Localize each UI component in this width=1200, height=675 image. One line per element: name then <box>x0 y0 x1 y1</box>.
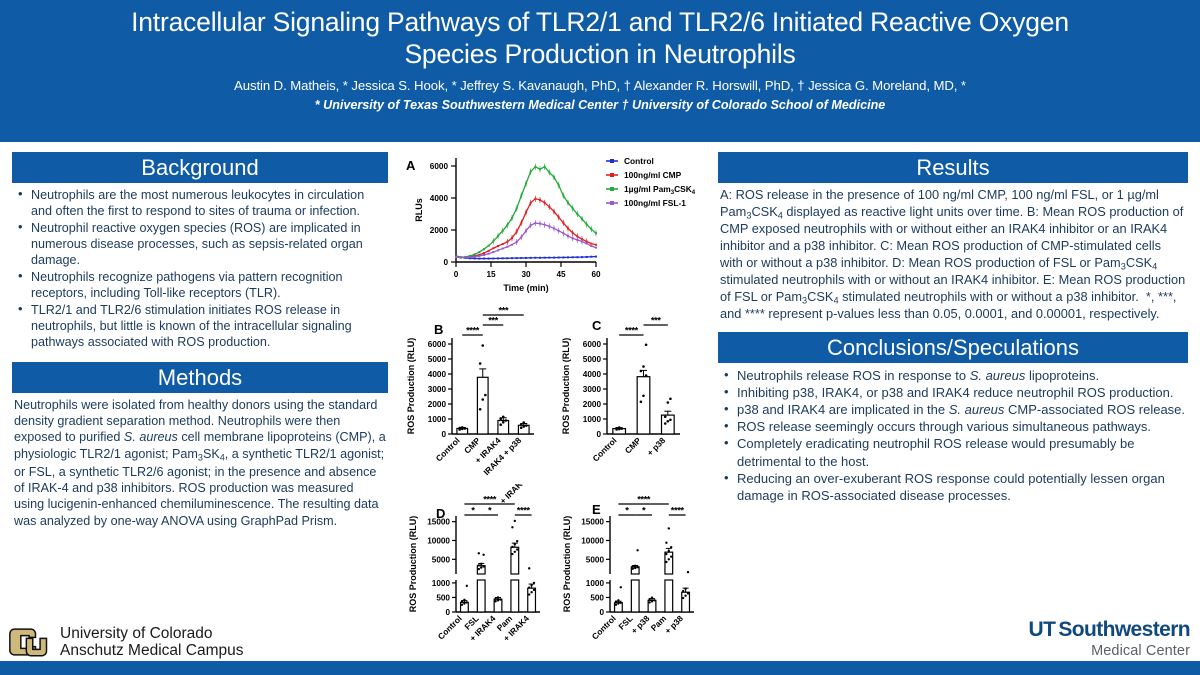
svg-text:+ p38: + p38 <box>663 613 686 636</box>
utsw-logo-sub: Medical Center <box>1029 643 1190 659</box>
svg-text:****: **** <box>637 495 651 506</box>
svg-text:15000: 15000 <box>427 518 450 527</box>
svg-text:30: 30 <box>521 270 531 279</box>
svg-text:ROS Production (RLU): ROS Production (RLU) <box>408 516 418 613</box>
list-item: Neutrophils release ROS in response to S… <box>720 367 1186 384</box>
svg-text:5000: 5000 <box>432 555 451 564</box>
svg-text:ROS Production (RLU): ROS Production (RLU) <box>561 338 571 435</box>
svg-text:4000: 4000 <box>428 370 447 379</box>
background-body: Neutrophils are the most numerous leukoc… <box>12 183 388 351</box>
conclusions-section: Conclusions/Speculations Neutrophils rel… <box>718 332 1188 504</box>
conclusions-body: Neutrophils release ROS in response to S… <box>718 363 1188 504</box>
legend-label-control: Control <box>624 156 654 166</box>
svg-text:C: C <box>592 318 602 333</box>
figure-column: A 0 2000 4000 6000 0 <box>400 150 710 668</box>
svg-text:****: **** <box>625 326 639 337</box>
svg-text:+ p38: + p38 <box>645 435 668 458</box>
svg-text:***: *** <box>498 306 508 317</box>
svg-text:10000: 10000 <box>427 536 450 545</box>
list-item: p38 and IRAK4 are implicated in the S. a… <box>720 401 1186 418</box>
section-heading-results: Results <box>718 152 1188 183</box>
svg-text:1000: 1000 <box>428 415 447 424</box>
list-item: TLR2/1 and TLR2/6 stimulation initiates … <box>14 302 386 351</box>
panel-a-x-ticks: 0 15 30 45 60 <box>454 262 601 279</box>
affiliation-list: * University of Texas Southwestern Medic… <box>315 98 886 112</box>
panel-a-y-label: RLUs <box>414 198 424 222</box>
right-column: Results A: ROS release in the presence o… <box>718 152 1188 504</box>
panel-e-bar-chart: E0500100050001000015000ROS Production (R… <box>552 484 707 668</box>
section-heading-conclusions: Conclusions/Speculations <box>718 332 1188 363</box>
cu-buffalo-icon <box>8 620 52 664</box>
svg-text:****: **** <box>517 506 531 517</box>
svg-text:ROS Production (RLU): ROS Production (RLU) <box>562 516 572 613</box>
panel-d-bar-chart: D0500100050001000015000ROS Production (R… <box>400 484 552 668</box>
svg-text:500: 500 <box>436 593 450 602</box>
svg-text:ROS Production (RLU): ROS Production (RLU) <box>406 338 416 435</box>
svg-text:60: 60 <box>591 270 601 279</box>
panel-a-letter: A <box>406 158 416 173</box>
svg-text:0: 0 <box>443 258 448 267</box>
svg-text:***: *** <box>488 316 498 327</box>
svg-text:5000: 5000 <box>428 355 447 364</box>
poster-header: Intracellular Signaling Pathways of TLR2… <box>0 0 1200 142</box>
poster-title: Intracellular Signaling Pathways of TLR2… <box>30 6 1170 71</box>
conclusions-bullet-list: Neutrophils release ROS in response to S… <box>720 367 1186 504</box>
methods-body: Neutrophils were isolated from healthy d… <box>12 393 388 530</box>
poster-root: Intracellular Signaling Pathways of TLR2… <box>0 0 1200 675</box>
svg-text:+ IRAK4: + IRAK4 <box>498 484 528 506</box>
svg-text:15: 15 <box>486 270 496 279</box>
svg-text:Control: Control <box>590 435 618 463</box>
svg-text:****: **** <box>483 495 497 506</box>
title-line-1: Intracellular Signaling Pathways of TLR2… <box>131 7 1069 37</box>
legend-label-pam: 1µg/ml Pam3CSK4 <box>624 184 696 196</box>
svg-text:1000: 1000 <box>432 579 451 588</box>
list-item: Neutrophils are the most numerous leukoc… <box>14 187 386 220</box>
panel-b-bar-chart: B0100020003000400050006000ROS Production… <box>400 302 552 484</box>
svg-text:3000: 3000 <box>428 385 447 394</box>
svg-text:1000: 1000 <box>586 579 605 588</box>
cu-logo-text: University of Colorado Anschutz Medical … <box>60 625 244 660</box>
panel-a-legend: Control 100ng/ml CMP 1µg/ml Pam3CSK4 100… <box>606 156 696 208</box>
svg-text:Control: Control <box>434 435 462 463</box>
svg-text:+ p38: + p38 <box>629 613 652 636</box>
svg-text:B: B <box>434 322 443 337</box>
svg-text:15000: 15000 <box>581 518 604 527</box>
svg-text:E: E <box>592 502 601 517</box>
legend-label-cmp: 100ng/ml CMP <box>624 170 682 180</box>
svg-text:6000: 6000 <box>430 162 449 171</box>
cu-logo-line-2: Anschutz Medical Campus <box>60 642 244 659</box>
panel-a-series-group <box>455 164 597 260</box>
left-column: Background Neutrophils are the most nume… <box>12 152 388 529</box>
svg-text:45: 45 <box>556 270 566 279</box>
legend-label-fsl: 100ng/ml FSL-1 <box>624 198 686 208</box>
section-heading-background: Background <box>12 152 388 183</box>
svg-text:5000: 5000 <box>586 555 605 564</box>
panel-bc-row: B0100020003000400050006000ROS Production… <box>400 302 710 484</box>
svg-text:6000: 6000 <box>583 340 602 349</box>
title-line-2: Species Production in Neutrophils <box>404 39 795 69</box>
svg-text:0: 0 <box>599 608 604 617</box>
list-item: ROS release seemingly occurs through var… <box>720 418 1186 435</box>
svg-text:0: 0 <box>445 608 450 617</box>
svg-text:4000: 4000 <box>583 370 602 379</box>
panel-a-x-label: Time (min) <box>503 283 548 293</box>
svg-text:5000: 5000 <box>583 355 602 364</box>
svg-text:****: **** <box>671 506 685 517</box>
cu-logo-line-1: University of Colorado <box>60 625 244 642</box>
list-item: Completely eradicating neutrophil ROS re… <box>720 435 1186 469</box>
svg-text:2000: 2000 <box>428 400 447 409</box>
svg-text:***: *** <box>651 316 661 327</box>
svg-text:****: **** <box>466 326 480 337</box>
utsw-logo: UTSouthwestern Medical Center <box>1029 618 1190 659</box>
svg-text:2000: 2000 <box>430 226 449 235</box>
author-list: Austin D. Matheis, * Jessica S. Hook, * … <box>30 78 1170 93</box>
svg-text:10000: 10000 <box>581 536 604 545</box>
utsw-southwestern: Southwestern <box>1058 618 1190 641</box>
cu-logo: University of Colorado Anschutz Medical … <box>8 620 244 664</box>
list-item: Neutrophils recognize pathogens via patt… <box>14 269 386 302</box>
results-body: A: ROS release in the presence of 100 ng… <box>718 183 1188 323</box>
panel-a-y-ticks: 0 2000 4000 6000 <box>430 162 456 267</box>
footer-bar <box>0 661 1200 675</box>
background-bullet-list: Neutrophils are the most numerous leukoc… <box>14 187 386 351</box>
panel-de-row: D0500100050001000015000ROS Production (R… <box>400 484 710 668</box>
list-item: Neutrophil reactive oxygen species (ROS)… <box>14 220 386 269</box>
list-item: Inhibiting p38, IRAK4, or p38 and IRAK4 … <box>720 384 1186 401</box>
list-item: Reducing an over-exuberant ROS response … <box>720 470 1186 504</box>
svg-text:0: 0 <box>441 430 446 439</box>
svg-text:500: 500 <box>590 593 604 602</box>
svg-text:6000: 6000 <box>428 340 447 349</box>
svg-text:Control: Control <box>590 613 618 641</box>
panel-a-line-chart: A 0 2000 4000 6000 0 <box>400 150 710 298</box>
svg-text:2000: 2000 <box>583 400 602 409</box>
utsw-logo-top: UTSouthwestern <box>1029 618 1190 642</box>
svg-text:Control: Control <box>436 613 464 641</box>
svg-text:1000: 1000 <box>583 415 602 424</box>
utsw-ut: UT <box>1029 618 1056 641</box>
svg-text:0: 0 <box>454 270 459 279</box>
section-heading-methods: Methods <box>12 362 388 393</box>
svg-text:0: 0 <box>596 430 601 439</box>
svg-text:4000: 4000 <box>430 194 449 203</box>
methods-section: Methods Neutrophils were isolated from h… <box>12 362 388 530</box>
panel-c-bar-chart: C0100020003000400050006000ROS Production… <box>552 302 707 484</box>
svg-text:CMP: CMP <box>623 435 644 456</box>
svg-text:3000: 3000 <box>583 385 602 394</box>
